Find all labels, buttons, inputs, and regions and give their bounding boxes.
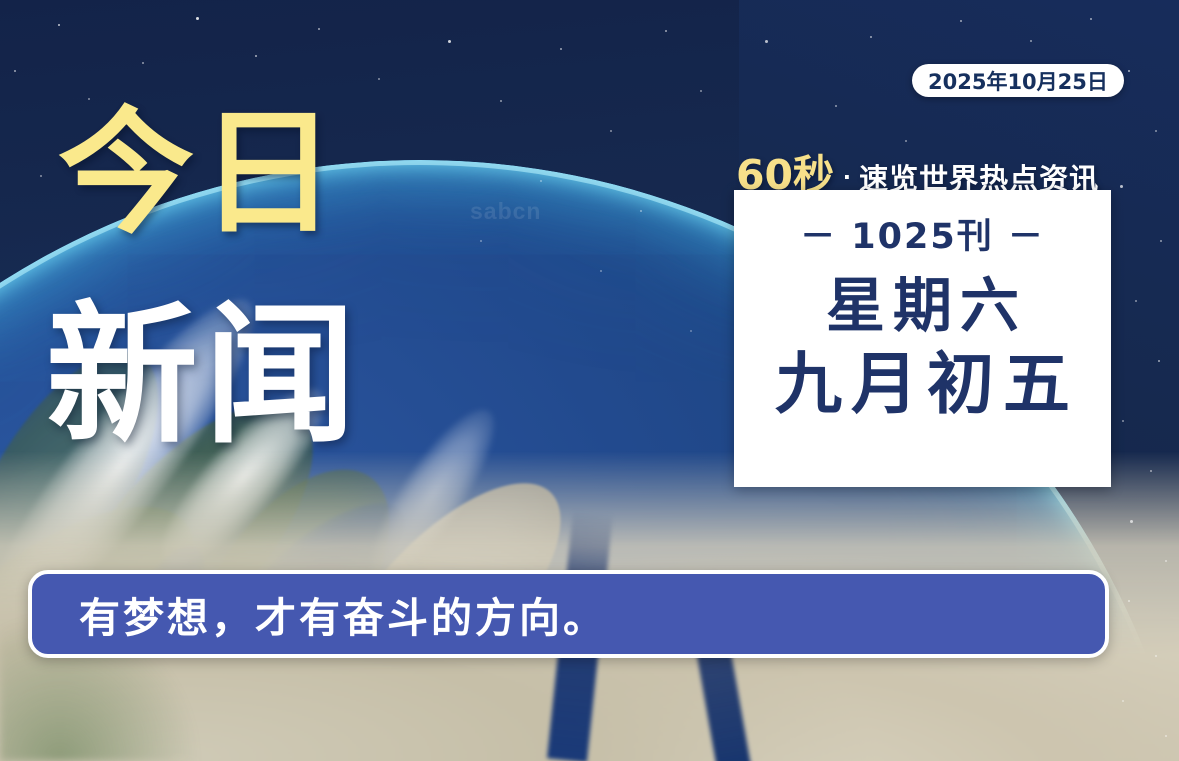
quote-banner: 有梦想，才有奋斗的方向。 — [28, 570, 1109, 658]
news-poster: sabcn 今日 新闻 2025年10月25日 60秒 · 速览世界热点资讯 －… — [0, 0, 1179, 761]
date-badge: 2025年10月25日 — [912, 64, 1124, 97]
lunar-date-label: 九月初五 — [766, 349, 1079, 419]
subtitle-separator-dot: · — [843, 162, 852, 193]
poster-title-line1: 今日 — [58, 106, 342, 242]
poster-title-line2: 新闻 — [46, 300, 362, 452]
quote-text: 有梦想，才有奋斗的方向。 — [79, 584, 607, 644]
date-badge-label: 2025年10月25日 — [928, 66, 1108, 96]
weekday-label: 星期六 — [818, 275, 1027, 337]
watermark-text: sabcn — [470, 198, 541, 225]
info-card: － 1025刊 － 星期六 九月初五 — [734, 190, 1111, 487]
issue-number-label: － 1025刊 － — [800, 208, 1045, 259]
